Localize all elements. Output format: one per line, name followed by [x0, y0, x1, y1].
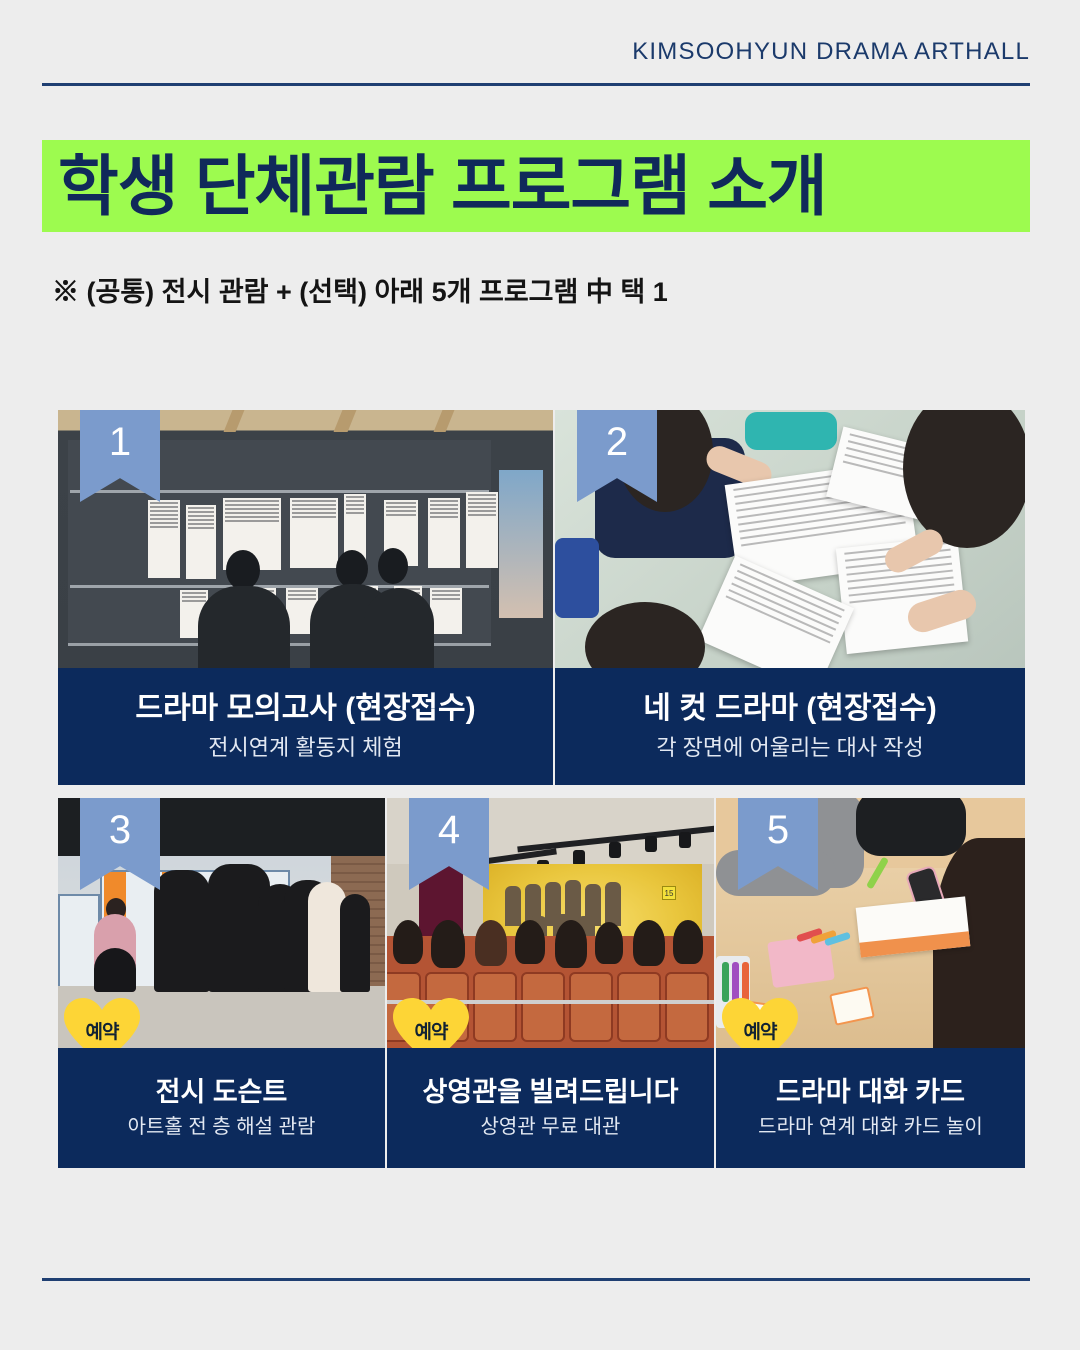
program-caption-1: 드라마 모의고사 (현장접수) 전시연계 활동지 체험	[58, 668, 553, 785]
program-number-4: 4	[438, 808, 460, 853]
reservation-badge-3: 예약	[64, 998, 140, 1048]
reservation-badge-5: 예약	[722, 998, 798, 1048]
brand-row: KIMSOOHYUN DRAMA ARTHALL	[42, 38, 1030, 66]
program-caption-2: 네 컷 드라마 (현장접수) 각 장면에 어울리는 대사 작성	[555, 668, 1025, 785]
program-card-2[interactable]: 2 네 컷 드라마 (현장접수) 각 장면에 어울리는 대사 작성	[555, 410, 1025, 785]
program-caption-4: 상영관을 빌려드립니다 상영관 무료 대관	[387, 1048, 714, 1168]
program-number-2: 2	[606, 420, 628, 465]
program-photo-2: 2	[555, 410, 1025, 668]
header-divider	[42, 83, 1030, 86]
program-title-1: 드라마 모의고사 (현장접수)	[62, 690, 549, 728]
reservation-label-4: 예약	[415, 1017, 448, 1044]
program-number-1: 1	[109, 420, 131, 465]
program-photo-4: 15 4 예약	[387, 798, 714, 1048]
program-title-5: 드라마 대화 카드	[720, 1076, 1021, 1110]
program-title-4: 상영관을 빌려드립니다	[391, 1076, 710, 1110]
page-subtitle: ※ (공통) 전시 관람 + (선택) 아래 5개 프로그램 中 택 1	[52, 270, 668, 309]
reservation-label-3: 예약	[86, 1017, 119, 1044]
program-subtitle-5: 드라마 연계 대화 카드 놀이	[720, 1114, 1021, 1140]
program-caption-5: 드라마 대화 카드 드라마 연계 대화 카드 놀이	[716, 1048, 1025, 1168]
reservation-label-5: 예약	[744, 1017, 777, 1044]
program-caption-3: 전시 도슨트 아트홀 전 층 해설 관람	[58, 1048, 385, 1168]
program-title-2: 네 컷 드라마 (현장접수)	[559, 690, 1021, 728]
reservation-badge-4: 예약	[393, 998, 469, 1048]
page-title: 학생 단체관람 프로그램 소개	[58, 153, 827, 219]
program-number-5: 5	[767, 808, 789, 853]
program-photo-5: 5 예약	[716, 798, 1025, 1048]
program-card-1[interactable]: 1 드라마 모의고사 (현장접수) 전시연계 활동지 체험	[58, 410, 553, 785]
brand-title: KIMSOOHYUN DRAMA ARTHALL	[632, 38, 1030, 65]
program-subtitle-1: 전시연계 활동지 체험	[62, 734, 549, 763]
program-card-5[interactable]: 5 예약 드라마 대화 카드 드라마 연계 대화 카드 놀이	[716, 798, 1025, 1168]
program-title-3: 전시 도슨트	[62, 1076, 381, 1110]
program-card-4[interactable]: 15 4 예약 상영관을 빌려드립니다	[387, 798, 714, 1168]
program-subtitle-3: 아트홀 전 층 해설 관람	[62, 1114, 381, 1140]
program-card-3[interactable]: 3 예약 전시 도슨트 아트홀 전 층 해설 관람	[58, 798, 385, 1168]
footer-divider	[42, 1278, 1030, 1281]
program-number-3: 3	[109, 808, 131, 853]
program-photo-1: 1	[58, 410, 553, 668]
program-subtitle-2: 각 장면에 어울리는 대사 작성	[559, 734, 1021, 763]
program-photo-3: 3 예약	[58, 798, 385, 1048]
page-title-band: 학생 단체관람 프로그램 소개	[42, 140, 1030, 232]
program-subtitle-4: 상영관 무료 대관	[391, 1114, 710, 1140]
